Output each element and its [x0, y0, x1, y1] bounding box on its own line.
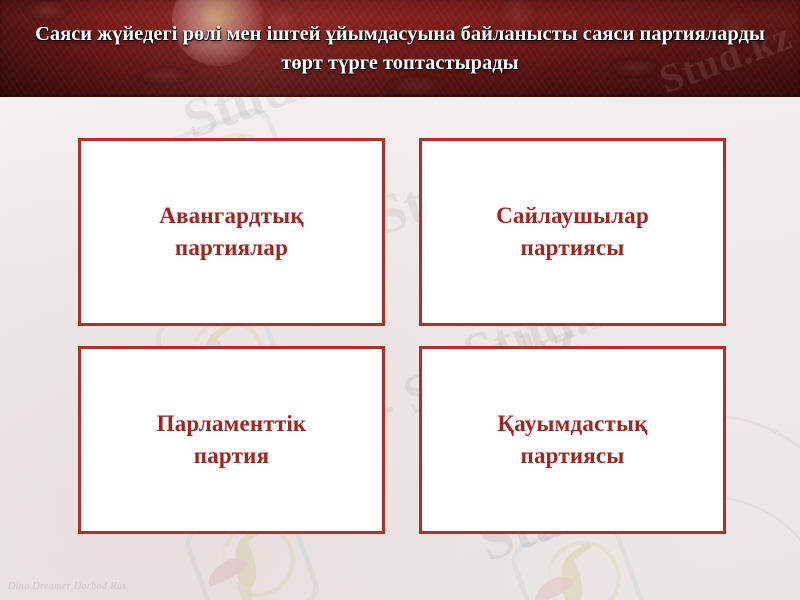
party-type-label: Сайлаушылар партиясы	[496, 200, 649, 264]
header-banner: Stud.kz Саяси жүйедегі рөлі мен іштей ұй…	[0, 0, 800, 97]
party-type-label: Қауымдастық партиясы	[497, 408, 647, 472]
party-type-grid: Авангардтық партиялар Сайлаушылар партия…	[78, 138, 726, 534]
page-title: Саяси жүйедегі рөлі мен іштей ұйымдасуын…	[0, 0, 800, 78]
party-type-label: Парламенттік партия	[157, 408, 307, 472]
party-type-label: Авангардтық партиялар	[159, 200, 304, 264]
party-type-box-1[interactable]: Авангардтық партиялар	[78, 138, 385, 326]
party-type-box-4[interactable]: Қауымдастық партиясы	[419, 346, 726, 534]
party-type-box-3[interactable]: Парламенттік партия	[78, 346, 385, 534]
slide-root: Stud.kz Саяси жүйедегі рөлі мен іштей ұй…	[0, 0, 800, 600]
footer-credit: Dino Dreamer Dorbod Rus	[8, 581, 127, 592]
party-type-box-2[interactable]: Сайлаушылар партиясы	[419, 138, 726, 326]
